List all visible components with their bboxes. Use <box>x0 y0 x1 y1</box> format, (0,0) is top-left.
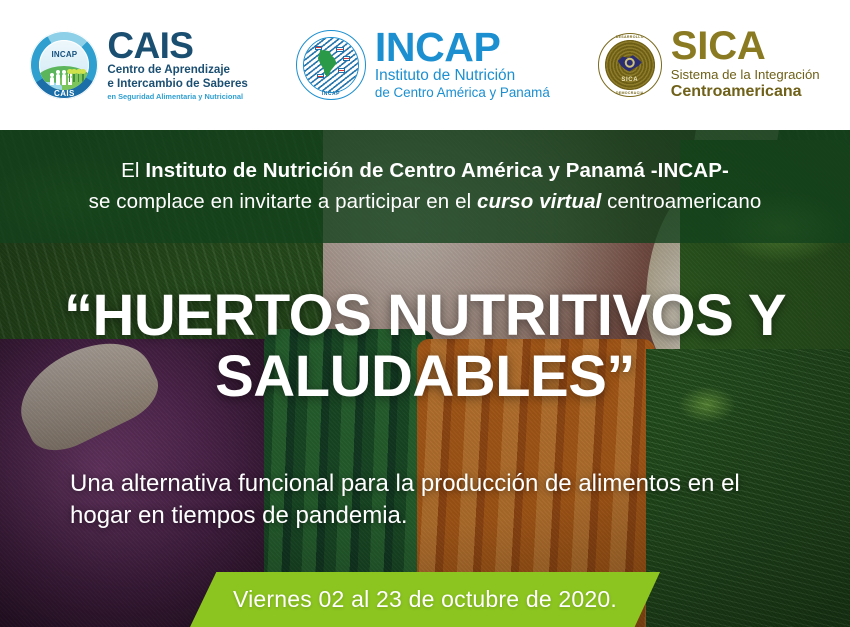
incap-wordmark: INCAP Instituto de Nutrición de Centro A… <box>375 29 550 101</box>
plants-icon <box>69 72 84 82</box>
cais-emblem-word-top: INCAP <box>39 50 89 59</box>
cais-line2: e Intercambio de Saberes <box>107 77 247 91</box>
intro-text: El Instituto de Nutrición de Centro Amér… <box>0 130 850 243</box>
flag-icon <box>343 56 350 61</box>
sica-emblem-icon: DESARROLLO DEMOCRACIA SICA <box>598 33 662 97</box>
incap-acronym: INCAP <box>375 29 550 66</box>
sica-wordmark: SICA Sistema de la Integración Centroame… <box>671 28 820 102</box>
sica-arc-bottom: DEMOCRACIA <box>598 91 662 95</box>
sica-arc-top: DESARROLLO <box>598 35 662 39</box>
intro-line2-suffix: centroamericano <box>601 190 761 213</box>
logo-sica: DESARROLLO DEMOCRACIA SICA SICA Sistema … <box>598 28 820 102</box>
course-title: “HUERTOS NUTRITIVOS Y SALUDABLES” <box>0 285 850 408</box>
sica-center-dot <box>627 60 634 67</box>
intro-line1-prefix: El <box>121 159 145 182</box>
cais-line1: Centro de Aprendizaje <box>107 63 247 77</box>
intro-line1-bold: Instituto de Nutrición de Centro América… <box>145 159 729 182</box>
flag-icon <box>317 74 324 79</box>
cais-wordmark: CAIS Centro de Aprendizaje e Intercambio… <box>107 29 247 102</box>
incap-inner-ring <box>303 37 359 93</box>
course-subtitle: Una alternativa funcional para la produc… <box>0 468 850 532</box>
sica-acronym: SICA <box>671 28 820 65</box>
date-banner: Viernes 02 al 23 de octubre de 2020. <box>190 572 660 627</box>
sica-disc: SICA <box>605 40 655 90</box>
flag-icon <box>336 47 344 52</box>
incap-line2: de Centro América y Panamá <box>375 85 550 101</box>
intro-line2-italic: curso virtual <box>477 190 601 213</box>
poster-root: INCAP CAIS CAIS Centro de Aprendizaje e … <box>0 0 850 627</box>
cais-emblem-icon: INCAP CAIS <box>30 31 98 99</box>
cais-acronym: CAIS <box>107 29 247 64</box>
cais-line3: en Seguridad Alimentaria y Nutricional <box>107 92 247 102</box>
cais-inner-scene: INCAP <box>39 40 89 90</box>
flag-icon <box>315 46 322 51</box>
logo-cais: INCAP CAIS CAIS Centro de Aprendizaje e … <box>30 29 247 102</box>
cais-emblem-word-bottom: CAIS <box>30 89 98 98</box>
flag-icon <box>338 68 345 73</box>
intro-line-2: se complace en invitarte a participar en… <box>89 190 762 214</box>
incap-line1: Instituto de Nutrición <box>375 67 550 85</box>
vegetables-photo: El Instituto de Nutrición de Centro Amér… <box>0 130 850 627</box>
intro-line2-prefix: se complace en invitarte a participar en… <box>89 190 477 213</box>
logo-incap: INCAP INCAP Instituto de Nutrición de Ce… <box>296 29 550 101</box>
logo-bar: INCAP CAIS CAIS Centro de Aprendizaje e … <box>0 0 850 130</box>
sica-emblem-word: SICA <box>605 77 655 83</box>
sica-line2: Centroamericana <box>671 83 820 102</box>
sica-line1: Sistema de la Integración <box>671 67 820 83</box>
incap-emblem-word-bottom: INCAP <box>296 91 366 97</box>
incap-emblem-icon: INCAP <box>296 30 366 100</box>
intro-line-1: El Instituto de Nutrición de Centro Amér… <box>121 159 729 183</box>
date-banner-label: Viernes 02 al 23 de octubre de 2020. <box>233 586 617 613</box>
